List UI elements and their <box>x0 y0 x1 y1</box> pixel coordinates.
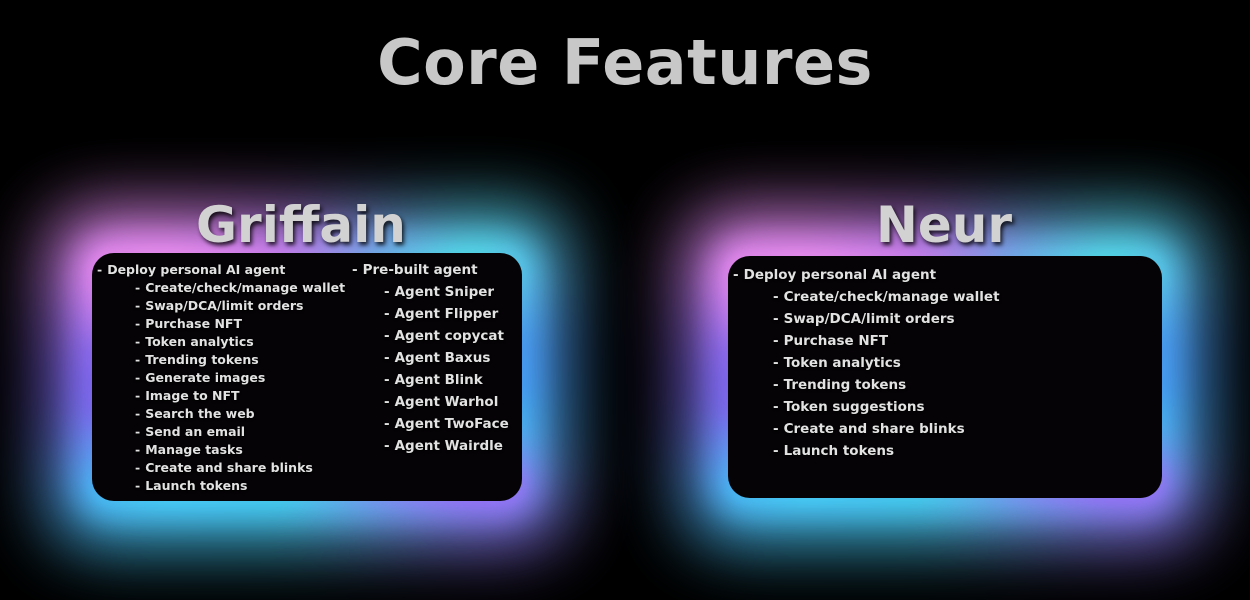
feature-item-label: Agent TwoFace <box>395 416 509 432</box>
feature-column-griffain-prebuilt-agent: -Pre-built agent -Agent Sniper -Agent Fl… <box>352 259 532 457</box>
feature-item-label: Agent Wairdle <box>395 438 503 454</box>
feature-item-label: Agent Warhol <box>395 394 499 410</box>
feature-item-label: Agent Flipper <box>395 306 499 322</box>
dash-bullet-icon: - <box>135 369 140 387</box>
dash-bullet-icon: - <box>135 441 140 459</box>
feature-item: -Send an email <box>97 423 337 441</box>
feature-item: -Swap/DCA/limit orders <box>97 297 337 315</box>
feature-item: -Image to NFT <box>97 387 337 405</box>
dash-bullet-icon: - <box>773 286 779 308</box>
feature-group-title: -Deploy personal AI agent <box>97 261 337 279</box>
feature-item-label: Agent Baxus <box>395 350 491 366</box>
feature-card-neur: Neur -Deploy personal AI agent -Create/c… <box>728 256 1162 498</box>
feature-item: -Agent Flipper <box>352 303 532 325</box>
dash-bullet-icon: - <box>135 351 140 369</box>
feature-item-label: Token suggestions <box>784 399 925 415</box>
feature-item: -Agent Wairdle <box>352 435 532 457</box>
dash-bullet-icon: - <box>773 330 779 352</box>
feature-group-label: Pre-built agent <box>363 262 478 278</box>
feature-item: -Agent Warhol <box>352 391 532 413</box>
feature-item-label: Generate images <box>145 370 265 385</box>
feature-item-label: Token analytics <box>145 334 253 349</box>
feature-item: -Token analytics <box>97 333 337 351</box>
feature-item: -Generate images <box>97 369 337 387</box>
feature-item: -Agent copycat <box>352 325 532 347</box>
feature-column-griffain-personal-agent: -Deploy personal AI agent -Create/check/… <box>97 261 337 495</box>
feature-item-label: Create/check/manage wallet <box>784 289 1000 305</box>
feature-item-label: Agent copycat <box>395 328 504 344</box>
feature-item-label: Agent Sniper <box>395 284 494 300</box>
dash-bullet-icon: - <box>384 435 390 457</box>
dash-bullet-icon: - <box>135 405 140 423</box>
feature-item-label: Purchase NFT <box>784 333 889 349</box>
feature-item-label: Launch tokens <box>784 443 894 459</box>
feature-item: -Launch tokens <box>97 477 337 495</box>
dash-bullet-icon: - <box>773 374 779 396</box>
feature-item: -Purchase NFT <box>733 330 1033 352</box>
dash-bullet-icon: - <box>135 297 140 315</box>
feature-item-label: Purchase NFT <box>145 316 242 331</box>
dash-bullet-icon: - <box>97 261 102 279</box>
dash-bullet-icon: - <box>384 369 390 391</box>
feature-item: -Agent Blink <box>352 369 532 391</box>
feature-item: -Create/check/manage wallet <box>733 286 1033 308</box>
feature-item-label: Manage tasks <box>145 442 243 457</box>
feature-card-griffain: Griffain -Deploy personal AI agent -Crea… <box>92 253 522 501</box>
dash-bullet-icon: - <box>773 418 779 440</box>
feature-item: -Create and share blinks <box>97 459 337 477</box>
dash-bullet-icon: - <box>135 279 140 297</box>
feature-item: -Swap/DCA/limit orders <box>733 308 1033 330</box>
feature-item-label: Send an email <box>145 424 245 439</box>
dash-bullet-icon: - <box>773 396 779 418</box>
dash-bullet-icon: - <box>384 281 390 303</box>
dash-bullet-icon: - <box>773 352 779 374</box>
dash-bullet-icon: - <box>352 259 358 281</box>
feature-item: -Create and share blinks <box>733 418 1033 440</box>
feature-item-label: Trending tokens <box>784 377 907 393</box>
dash-bullet-icon: - <box>384 391 390 413</box>
feature-item-label: Launch tokens <box>145 478 247 493</box>
feature-item-label: Agent Blink <box>395 372 483 388</box>
feature-item-label: Trending tokens <box>145 352 258 367</box>
feature-item-label: Token analytics <box>784 355 901 371</box>
feature-item: -Manage tasks <box>97 441 337 459</box>
feature-item: -Trending tokens <box>733 374 1033 396</box>
feature-item: -Launch tokens <box>733 440 1033 462</box>
feature-column-neur-personal-agent: -Deploy personal AI agent -Create/check/… <box>733 264 1033 462</box>
dash-bullet-icon: - <box>135 315 140 333</box>
feature-item-label: Create/check/manage wallet <box>145 280 345 295</box>
dash-bullet-icon: - <box>733 264 739 286</box>
feature-item: -Token analytics <box>733 352 1033 374</box>
dash-bullet-icon: - <box>773 308 779 330</box>
page-title: Core Features <box>0 26 1250 99</box>
feature-group-title: -Deploy personal AI agent <box>733 264 1033 286</box>
feature-item: -Token suggestions <box>733 396 1033 418</box>
card-heading-griffain: Griffain <box>196 196 406 254</box>
feature-group-label: Deploy personal AI agent <box>744 267 936 283</box>
feature-item-label: Search the web <box>145 406 254 421</box>
feature-item: -Agent TwoFace <box>352 413 532 435</box>
dash-bullet-icon: - <box>773 440 779 462</box>
feature-item: -Search the web <box>97 405 337 423</box>
feature-item-label: Swap/DCA/limit orders <box>145 298 303 313</box>
feature-item: -Trending tokens <box>97 351 337 369</box>
dash-bullet-icon: - <box>135 387 140 405</box>
feature-item-label: Swap/DCA/limit orders <box>784 311 955 327</box>
dash-bullet-icon: - <box>384 325 390 347</box>
feature-group-label: Deploy personal AI agent <box>107 262 285 277</box>
feature-item-label: Create and share blinks <box>145 460 313 475</box>
feature-item: -Agent Sniper <box>352 281 532 303</box>
dash-bullet-icon: - <box>135 459 140 477</box>
feature-item: -Create/check/manage wallet <box>97 279 337 297</box>
feature-item: -Agent Baxus <box>352 347 532 369</box>
dash-bullet-icon: - <box>384 347 390 369</box>
card-heading-neur: Neur <box>876 196 1012 254</box>
feature-item-label: Create and share blinks <box>784 421 965 437</box>
slide-canvas: Core Features Griffain -Deploy personal … <box>0 0 1250 600</box>
dash-bullet-icon: - <box>384 413 390 435</box>
dash-bullet-icon: - <box>135 477 140 495</box>
feature-item-label: Image to NFT <box>145 388 239 403</box>
dash-bullet-icon: - <box>135 423 140 441</box>
dash-bullet-icon: - <box>135 333 140 351</box>
feature-group-title: -Pre-built agent <box>352 259 532 281</box>
feature-item: -Purchase NFT <box>97 315 337 333</box>
dash-bullet-icon: - <box>384 303 390 325</box>
